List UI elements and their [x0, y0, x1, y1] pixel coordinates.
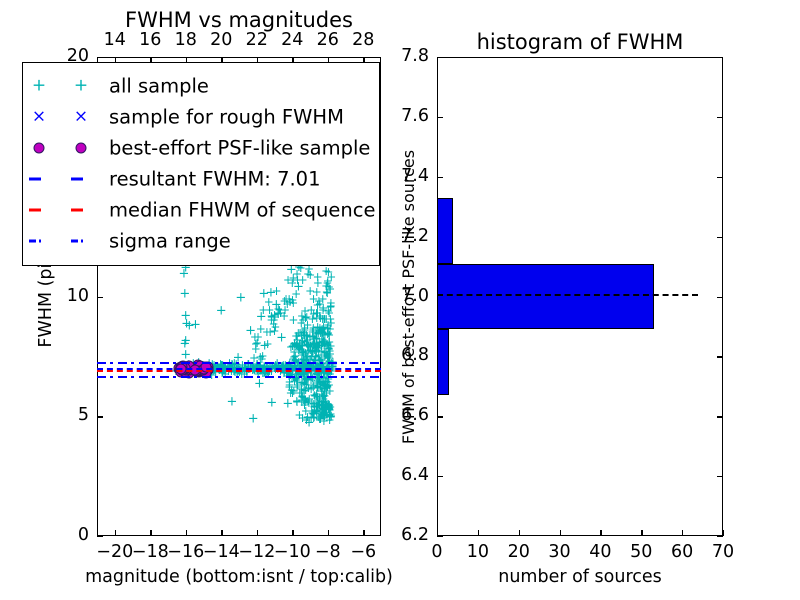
scatter-point-all-sample: +	[270, 311, 280, 323]
scatter-point-all-sample: +	[325, 404, 335, 416]
scatter-point-all-sample: +	[318, 389, 328, 401]
scatter-point-all-sample: +	[318, 402, 328, 414]
scatter-point-all-sample: +	[321, 280, 331, 292]
scatter-point-all-sample: +	[270, 321, 280, 333]
scatter-point-all-sample: +	[279, 295, 289, 307]
scatter-point-all-sample: +	[314, 354, 324, 366]
scatter-point-all-sample: +	[308, 337, 318, 349]
scatter-point-all-sample: +	[181, 318, 192, 331]
scatter-point-all-sample: +	[310, 344, 320, 356]
scatter-point-all-sample: +	[320, 410, 330, 422]
scatter-point-all-sample: +	[322, 322, 332, 334]
scatter-point-all-sample: +	[308, 345, 318, 357]
scatter-point-all-sample: +	[306, 350, 316, 362]
scatter-point-all-sample: +	[298, 314, 308, 326]
scatter-point-all-sample: +	[318, 302, 328, 314]
scatter-point-all-sample: +	[297, 377, 307, 389]
scatter-point-all-sample: +	[251, 343, 261, 355]
scatter-point-all-sample: +	[320, 382, 330, 394]
scatter-point-all-sample: +	[266, 397, 277, 410]
histogram-bar	[437, 329, 449, 395]
scatter-point-all-sample: +	[312, 381, 322, 393]
histogram-y-tick-label: 6.4	[401, 465, 429, 485]
scatter-point-all-sample: +	[305, 331, 315, 343]
scatter-point-all-sample: +	[325, 283, 335, 295]
scatter-point-all-sample: +	[305, 341, 315, 353]
scatter-point-all-sample: +	[306, 383, 316, 395]
scatter-point-all-sample: +	[292, 330, 302, 342]
scatter-point-all-sample: +	[291, 288, 301, 300]
scatter-point-all-sample: +	[317, 391, 327, 403]
scatter-point-all-sample: +	[314, 349, 324, 361]
scatter-bottom-tick-label: −14	[203, 542, 240, 562]
scatter-point-all-sample: +	[300, 354, 310, 366]
scatter-point-all-sample: +	[316, 345, 326, 357]
scatter-point-all-sample: +	[324, 307, 334, 319]
scatter-point-all-sample: +	[315, 298, 325, 310]
scatter-y-tick-label: 0	[78, 525, 89, 545]
scatter-point-all-sample: +	[324, 399, 334, 411]
scatter-point-all-sample: +	[313, 382, 323, 394]
scatter-point-all-sample: +	[307, 313, 317, 325]
scatter-point-all-sample: +	[313, 307, 323, 319]
scatter-point-all-sample: +	[302, 329, 312, 341]
scatter-point-all-sample: +	[324, 343, 334, 355]
scatter-point-all-sample: +	[314, 373, 324, 385]
scatter-point-all-sample: +	[292, 381, 302, 393]
scatter-point-all-sample: +	[291, 340, 301, 352]
scatter-point-all-sample: +	[311, 307, 321, 319]
scatter-point-all-sample: +	[303, 340, 313, 352]
scatter-point-all-sample: +	[270, 325, 280, 337]
figure-canvas: FWHM vs magnitudes1416182022242628−20−18…	[0, 0, 800, 600]
scatter-point-all-sample: +	[301, 374, 311, 386]
scatter-point-all-sample: +	[284, 293, 294, 305]
scatter-point-all-sample: +	[320, 404, 330, 416]
legend-marker-plus: +	[32, 77, 46, 94]
scatter-point-all-sample: +	[325, 401, 335, 413]
legend-marker-dashed-line	[29, 177, 49, 180]
scatter-point-all-sample: +	[307, 405, 317, 417]
scatter-point-all-sample: +	[287, 294, 297, 306]
scatter-point-all-sample: +	[313, 342, 323, 354]
scatter-point-all-sample: +	[300, 396, 310, 408]
histogram-x-tick-label: 60	[671, 542, 693, 562]
scatter-point-all-sample: +	[265, 326, 275, 338]
scatter-point-all-sample: +	[320, 378, 330, 390]
scatter-point-all-sample: +	[309, 333, 319, 345]
scatter-point-all-sample: +	[275, 307, 285, 319]
histogram-bar	[437, 264, 654, 330]
scatter-point-all-sample: +	[301, 405, 311, 417]
scatter-point-all-sample: +	[312, 340, 322, 352]
scatter-point-all-sample: +	[318, 327, 328, 339]
scatter-point-all-sample: +	[307, 339, 317, 351]
legend-row: median FHWM of sequence	[23, 194, 379, 225]
scatter-point-all-sample: +	[316, 382, 326, 394]
scatter-point-all-sample: +	[321, 337, 331, 349]
scatter-point-all-sample: +	[297, 347, 307, 359]
scatter-point-all-sample: +	[318, 406, 328, 418]
scatter-point-all-sample: +	[313, 398, 323, 410]
scatter-y-tick-label: 5	[78, 405, 89, 425]
scatter-point-all-sample: +	[318, 377, 328, 389]
scatter-point-all-sample: +	[280, 304, 290, 316]
scatter-point-all-sample: +	[288, 272, 298, 284]
scatter-point-all-sample: +	[322, 287, 332, 299]
scatter-point-all-sample: +	[315, 398, 325, 410]
histogram-x-tick-label: 40	[589, 542, 611, 562]
scatter-point-all-sample: +	[305, 285, 315, 297]
scatter-point-all-sample: +	[308, 331, 318, 343]
scatter-point-all-sample: +	[290, 350, 300, 362]
scatter-point-all-sample: +	[325, 414, 335, 426]
scatter-point-all-sample: +	[316, 404, 326, 416]
scatter-point-all-sample: +	[321, 280, 331, 292]
scatter-point-all-sample: +	[316, 399, 326, 411]
scatter-bottom-tick-label: −10	[274, 542, 311, 562]
scatter-point-all-sample: +	[306, 341, 316, 353]
scatter-point-all-sample: +	[299, 378, 309, 390]
scatter-point-all-sample: +	[309, 339, 319, 351]
scatter-point-all-sample: +	[311, 344, 321, 356]
scatter-point-all-sample: +	[266, 310, 276, 322]
scatter-point-all-sample: +	[273, 303, 283, 315]
scatter-point-all-sample: +	[289, 385, 299, 397]
scatter-point-all-sample: +	[311, 400, 321, 412]
scatter-point-all-sample: +	[320, 403, 331, 416]
scatter-point-all-sample: +	[309, 308, 319, 320]
scatter-point-all-sample: +	[325, 301, 335, 313]
histogram-y-tick-label: 7.6	[401, 106, 429, 126]
legend-marker-circle	[34, 142, 45, 153]
legend-row: best-effort PSF-like sample	[23, 132, 379, 163]
scatter-point-all-sample: +	[269, 318, 279, 330]
scatter-point-all-sample: +	[286, 341, 296, 353]
scatter-y-tick	[97, 536, 103, 537]
scatter-point-all-sample: +	[226, 395, 237, 408]
scatter-point-all-sample: +	[312, 405, 322, 417]
scatter-point-all-sample: +	[311, 346, 321, 358]
scatter-point-all-sample: +	[317, 408, 327, 420]
scatter-point-all-sample: +	[320, 383, 330, 395]
scatter-point-all-sample: +	[304, 382, 314, 394]
scatter-point-all-sample: +	[311, 332, 321, 344]
scatter-top-tick-label: 14	[104, 30, 126, 50]
scatter-top-tick-label: 20	[210, 30, 232, 50]
scatter-point-all-sample: +	[317, 333, 327, 345]
scatter-point-all-sample: +	[308, 407, 318, 419]
scatter-point-all-sample: +	[318, 304, 328, 316]
scatter-point-all-sample: +	[303, 339, 313, 351]
scatter-point-all-sample: +	[323, 373, 333, 385]
scatter-point-all-sample: +	[319, 379, 329, 391]
scatter-reference-line-dashed	[97, 370, 381, 372]
scatter-point-all-sample: +	[313, 271, 323, 283]
histogram-bar	[437, 198, 453, 264]
scatter-bottom-tick-label: −6	[350, 542, 376, 562]
scatter-point-all-sample: +	[321, 313, 331, 325]
scatter-point-all-sample: +	[322, 338, 332, 350]
scatter-point-all-sample: +	[324, 402, 334, 414]
scatter-point-all-sample: +	[323, 305, 333, 317]
scatter-point-all-sample: +	[273, 308, 283, 320]
scatter-point-all-sample: +	[318, 313, 328, 325]
scatter-point-all-sample: +	[256, 323, 266, 335]
scatter-point-all-sample: +	[319, 412, 329, 424]
scatter-point-all-sample: +	[313, 380, 323, 392]
scatter-point-all-sample: +	[301, 384, 311, 396]
scatter-point-all-sample: +	[312, 400, 322, 412]
scatter-point-all-sample: +	[262, 326, 272, 338]
histogram-x-tick-label: 70	[712, 542, 734, 562]
scatter-point-all-sample: +	[302, 330, 312, 342]
scatter-point-all-sample: +	[293, 327, 303, 339]
scatter-point-all-sample: +	[309, 401, 319, 413]
scatter-point-all-sample: +	[314, 340, 324, 352]
scatter-point-all-sample: +	[315, 413, 325, 425]
scatter-point-all-sample: +	[292, 268, 302, 280]
scatter-point-all-sample: +	[312, 395, 322, 407]
legend-label: resultant FWHM: 7.01	[109, 167, 321, 190]
scatter-point-all-sample: +	[298, 346, 308, 358]
scatter-point-all-sample: +	[297, 349, 307, 361]
scatter-point-all-sample: +	[235, 291, 246, 304]
scatter-point-all-sample: +	[321, 349, 331, 361]
scatter-point-all-sample: +	[296, 337, 306, 349]
histogram-x-tick-label: 0	[431, 542, 442, 562]
scatter-point-all-sample: +	[295, 387, 305, 399]
scatter-point-all-sample: +	[287, 340, 297, 352]
scatter-point-all-sample: +	[299, 392, 309, 404]
scatter-point-all-sample: +	[322, 277, 332, 289]
histogram-ylabel: FWHM of best-effort PSF-like sources	[399, 149, 418, 443]
legend-marker-dashdot-line	[29, 239, 49, 242]
scatter-point-all-sample: +	[319, 313, 329, 325]
scatter-point-all-sample: +	[326, 410, 336, 422]
scatter-point-all-sample: +	[326, 340, 336, 352]
scatter-point-all-sample: +	[312, 377, 322, 389]
scatter-point-all-sample: +	[291, 330, 301, 342]
scatter-point-all-sample: +	[309, 338, 319, 350]
scatter-point-all-sample: +	[303, 395, 313, 407]
scatter-point-all-sample: +	[320, 390, 330, 402]
scatter-point-all-sample: +	[310, 341, 320, 353]
scatter-point-all-sample: +	[309, 411, 319, 423]
scatter-point-all-sample: +	[179, 267, 190, 280]
scatter-point-all-sample: +	[316, 399, 327, 412]
scatter-point-all-sample: +	[265, 286, 276, 299]
scatter-point-all-sample: +	[312, 338, 322, 350]
scatter-point-all-sample: +	[292, 396, 302, 408]
scatter-point-all-sample: +	[271, 298, 282, 311]
scatter-point-all-sample: +	[325, 345, 335, 357]
scatter-point-all-sample: +	[311, 326, 321, 338]
scatter-point-all-sample: +	[325, 385, 335, 397]
legend-marker-dashed-line	[29, 208, 49, 211]
scatter-point-all-sample: +	[326, 297, 336, 309]
scatter-point-all-sample: +	[321, 265, 331, 277]
histogram-data-layer	[437, 57, 723, 536]
legend-marker-plus: +	[74, 77, 88, 94]
scatter-point-all-sample: +	[298, 335, 308, 347]
scatter-point-all-sample: +	[324, 329, 334, 341]
scatter-point-all-sample: +	[315, 312, 325, 324]
scatter-point-all-sample: +	[253, 331, 263, 343]
scatter-point-all-sample: +	[314, 336, 324, 348]
scatter-point-all-sample: +	[307, 407, 317, 419]
scatter-point-all-sample: +	[318, 409, 328, 421]
scatter-point-all-sample: +	[323, 328, 333, 340]
scatter-point-all-sample: +	[264, 296, 274, 308]
scatter-point-all-sample: +	[322, 404, 332, 416]
scatter-point-all-sample: +	[317, 385, 327, 397]
scatter-point-all-sample: +	[306, 304, 316, 316]
legend-label: sigma range	[109, 229, 231, 252]
scatter-point-all-sample: +	[289, 346, 299, 358]
scatter-point-all-sample: +	[318, 327, 328, 339]
scatter-point-all-sample: +	[320, 313, 330, 325]
scatter-point-all-sample: +	[263, 338, 273, 350]
scatter-point-all-sample: +	[297, 354, 307, 366]
scatter-point-all-sample: +	[319, 403, 329, 415]
scatter-point-all-sample: +	[258, 304, 268, 316]
histogram-x-tick-label: 20	[508, 542, 530, 562]
scatter-point-all-sample: +	[302, 379, 312, 391]
scatter-point-all-sample: +	[321, 395, 331, 407]
scatter-point-all-sample: +	[323, 398, 333, 410]
scatter-bottom-tick-label: −20	[96, 542, 133, 562]
scatter-point-all-sample: +	[303, 268, 313, 280]
scatter-point-all-sample: +	[312, 286, 322, 298]
scatter-point-all-sample: +	[309, 400, 319, 412]
scatter-point-all-sample: +	[293, 280, 304, 293]
scatter-point-all-sample: +	[306, 412, 316, 424]
scatter-point-all-sample: +	[326, 271, 336, 283]
legend-label: median FHWM of sequence	[109, 198, 375, 221]
scatter-point-all-sample: +	[190, 319, 201, 332]
scatter-point-all-sample: +	[317, 409, 327, 421]
scatter-point-all-sample: +	[315, 413, 325, 425]
scatter-point-all-sample: +	[296, 329, 306, 341]
scatter-point-all-sample: +	[321, 399, 331, 411]
scatter-point-all-sample: +	[316, 325, 326, 337]
scatter-point-all-sample: +	[324, 411, 334, 423]
scatter-point-all-sample: +	[300, 399, 310, 411]
scatter-point-all-sample: +	[298, 274, 308, 286]
legend-marker-cross: ×	[74, 108, 88, 125]
scatter-point-all-sample: +	[324, 400, 334, 412]
scatter-point-all-sample: +	[317, 339, 327, 351]
scatter-point-all-sample: +	[250, 331, 260, 343]
scatter-point-all-sample: +	[308, 379, 318, 391]
scatter-y-tick-label: 10	[67, 286, 89, 306]
scatter-point-all-sample: +	[323, 350, 333, 362]
scatter-point-all-sample: +	[287, 384, 297, 396]
scatter-point-all-sample: +	[326, 410, 336, 422]
scatter-point-all-sample: +	[309, 293, 319, 305]
scatter-point-all-sample: +	[259, 339, 270, 352]
scatter-point-all-sample: +	[307, 397, 317, 409]
scatter-point-all-sample: +	[323, 319, 333, 331]
scatter-point-all-sample: +	[312, 312, 322, 324]
scatter-top-tick-label: 24	[281, 30, 303, 50]
scatter-point-all-sample: +	[291, 354, 301, 366]
scatter-top-tick-label: 18	[175, 30, 197, 50]
scatter-point-all-sample: +	[326, 317, 336, 329]
scatter-point-all-sample: +	[317, 324, 327, 336]
scatter-point-all-sample: +	[320, 329, 330, 341]
scatter-point-all-sample: +	[303, 345, 313, 357]
scatter-point-all-sample: +	[295, 342, 305, 354]
histogram-x-tick-label: 10	[467, 542, 489, 562]
scatter-point-all-sample: +	[312, 388, 322, 400]
scatter-point-all-sample: +	[290, 337, 300, 349]
scatter-point-all-sample: +	[297, 396, 307, 408]
scatter-point-all-sample: +	[319, 389, 329, 401]
scatter-point-all-sample: +	[312, 337, 322, 349]
scatter-point-all-sample: +	[256, 310, 267, 323]
scatter-point-all-sample: +	[320, 401, 330, 413]
scatter-point-all-sample: +	[254, 377, 265, 390]
scatter-point-all-sample: +	[308, 322, 318, 334]
scatter-point-all-sample: +	[324, 403, 334, 415]
scatter-point-all-sample: +	[297, 310, 307, 322]
scatter-point-all-sample: +	[216, 304, 227, 317]
scatter-point-all-sample: +	[325, 323, 335, 335]
scatter-point-all-sample: +	[296, 317, 306, 329]
scatter-point-all-sample: +	[288, 314, 298, 326]
scatter-point-all-sample: +	[292, 274, 302, 286]
scatter-point-all-sample: +	[324, 336, 334, 348]
scatter-point-all-sample: +	[299, 385, 309, 397]
scatter-point-all-sample: +	[300, 322, 310, 334]
scatter-point-all-sample: +	[321, 400, 331, 412]
scatter-point-all-sample: +	[287, 277, 297, 289]
scatter-point-all-sample: +	[266, 314, 276, 326]
scatter-point-all-sample: +	[324, 409, 334, 421]
scatter-point-all-sample: +	[292, 379, 302, 391]
scatter-point-all-sample: +	[319, 335, 329, 347]
scatter-point-all-sample: +	[308, 330, 318, 342]
scatter-point-all-sample: +	[317, 400, 327, 412]
scatter-point-all-sample: +	[272, 285, 282, 297]
scatter-point-all-sample: +	[299, 394, 309, 406]
legend-row: sample for rough FWHM××	[23, 101, 379, 132]
scatter-point-all-sample: +	[313, 404, 323, 416]
scatter-point-all-sample: +	[267, 311, 277, 323]
scatter-point-all-sample: +	[298, 326, 308, 338]
scatter-point-all-sample: +	[302, 338, 312, 350]
scatter-point-all-sample: +	[320, 379, 330, 391]
scatter-point-all-sample: +	[302, 373, 312, 385]
scatter-point-all-sample: +	[302, 336, 312, 348]
scatter-point-all-sample: +	[323, 275, 333, 287]
scatter-point-all-sample: +	[326, 300, 336, 312]
scatter-point-all-sample: +	[320, 337, 330, 349]
scatter-point-all-sample: +	[307, 326, 317, 338]
scatter-point-all-sample: +	[180, 334, 191, 347]
scatter-point-all-sample: +	[310, 390, 320, 402]
scatter-point-all-sample: +	[308, 408, 318, 420]
scatter-point-all-sample: +	[312, 406, 322, 418]
scatter-point-all-sample: +	[315, 322, 325, 334]
scatter-point-all-sample: +	[270, 309, 280, 321]
scatter-point-all-sample: +	[318, 382, 328, 394]
scatter-point-all-sample: +	[297, 394, 307, 406]
scatter-point-all-sample: +	[317, 340, 327, 352]
scatter-point-all-sample: +	[297, 412, 307, 424]
